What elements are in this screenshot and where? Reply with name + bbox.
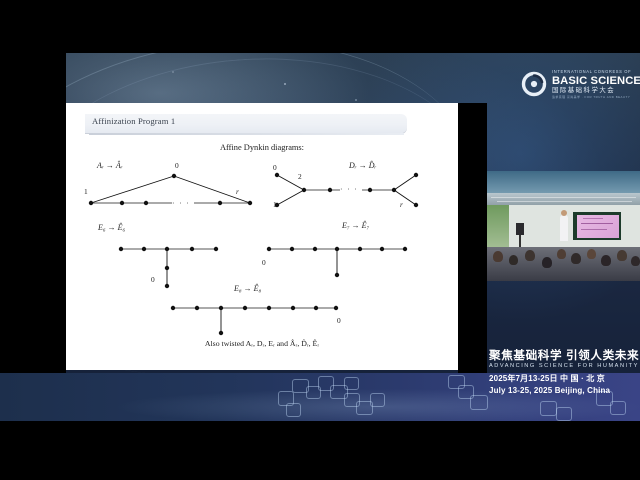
audience-head xyxy=(587,249,596,259)
loudspeaker xyxy=(516,223,524,235)
puzzle-piece xyxy=(556,407,572,421)
audience-head xyxy=(557,249,566,259)
puzzle-piece xyxy=(344,377,359,390)
ceiling-beam xyxy=(491,197,636,198)
slide-content-line xyxy=(583,218,603,219)
icbs-ring-logo-icon xyxy=(521,71,547,97)
letterbox-bottom xyxy=(0,421,640,480)
backdrop-speck xyxy=(284,83,286,85)
logo-line-2: BASIC SCIENCE xyxy=(552,75,634,87)
diagram-label-e6: E₆ → Ê₆ xyxy=(98,223,125,232)
backdrop-speck xyxy=(355,99,357,101)
slide-title: Affinization Program 1 xyxy=(92,116,175,126)
ceiling-beam xyxy=(497,201,632,202)
presenter-head xyxy=(561,210,567,216)
puzzle-piece xyxy=(610,401,626,415)
slide-caption: Also twisted Aᵣ, Dᵣ, Eᵣ and Âᵣ, D̂ᵣ, Êᵣ xyxy=(66,339,458,348)
presentation-slide: Affinization Program 1 Affine Dynkin dia… xyxy=(66,103,458,370)
puzzle-piece xyxy=(286,403,301,417)
audience-head xyxy=(631,256,640,266)
logo-line-4: 追求真理 崇尚美学 · FOR TRUTH AND BEAUTY xyxy=(552,95,634,100)
letterbox-left xyxy=(0,53,66,373)
audience-head xyxy=(601,255,611,266)
audience-head xyxy=(493,251,503,262)
ellipsis-d: · · · xyxy=(340,185,358,194)
puzzle-piece xyxy=(470,395,488,410)
dynkin-diagram-e6 xyxy=(114,242,224,292)
presenter-body xyxy=(560,215,568,241)
ellipsis-a: · · · xyxy=(172,199,190,208)
conference-date-english: July 13-25, 2025 Beijing, China xyxy=(489,385,640,396)
conference-slogan-block: 聚焦基础科学 引领人类未来 ADVANCING SCIENCE FOR HUMA… xyxy=(489,349,640,396)
slide-content-line xyxy=(581,229,607,230)
slide-title-underline xyxy=(89,133,404,135)
lecture-hall-video-thumbnail[interactable] xyxy=(487,171,640,281)
slide-heading: Affine Dynkin diagrams: xyxy=(66,143,458,152)
side-window xyxy=(487,205,509,253)
dynkin-diagram-a xyxy=(82,169,257,209)
dynkin-diagram-e8 xyxy=(166,301,341,341)
conference-date-chinese: 2025年7月13-25日 中 国 · 北 京 xyxy=(489,373,640,385)
backdrop-speck xyxy=(172,71,174,73)
logo-line-3: 国际基础科学大会 xyxy=(552,87,634,95)
icbs-logo-text: INTERNATIONAL CONGRESS OF BASIC SCIENCE … xyxy=(552,69,634,100)
dynkin-diagram-e7 xyxy=(262,242,410,284)
icbs-logo: INTERNATIONAL CONGRESS OF BASIC SCIENCE … xyxy=(521,69,633,101)
audience-head xyxy=(571,253,581,264)
letterbox-top xyxy=(0,0,640,53)
audience-head xyxy=(617,250,627,261)
audience-head xyxy=(509,255,518,265)
diagram-label-e7: E₇ → Ê₇ xyxy=(342,221,369,230)
slogan-english: ADVANCING SCIENCE FOR HUMANITY xyxy=(489,362,640,370)
slide-content-line xyxy=(581,223,613,224)
video-screenshot: INTERNATIONAL CONGRESS OF BASIC SCIENCE … xyxy=(0,0,640,480)
puzzle-piece xyxy=(540,401,557,416)
puzzle-piece xyxy=(370,393,385,407)
audience-head xyxy=(525,250,535,261)
slogan-chinese: 聚焦基础科学 引领人类未来 xyxy=(489,349,640,362)
audience-head xyxy=(542,257,552,268)
letterbox-under-video xyxy=(458,281,487,373)
diagram-label-e8: E₈ → Ê₈ xyxy=(234,284,261,293)
